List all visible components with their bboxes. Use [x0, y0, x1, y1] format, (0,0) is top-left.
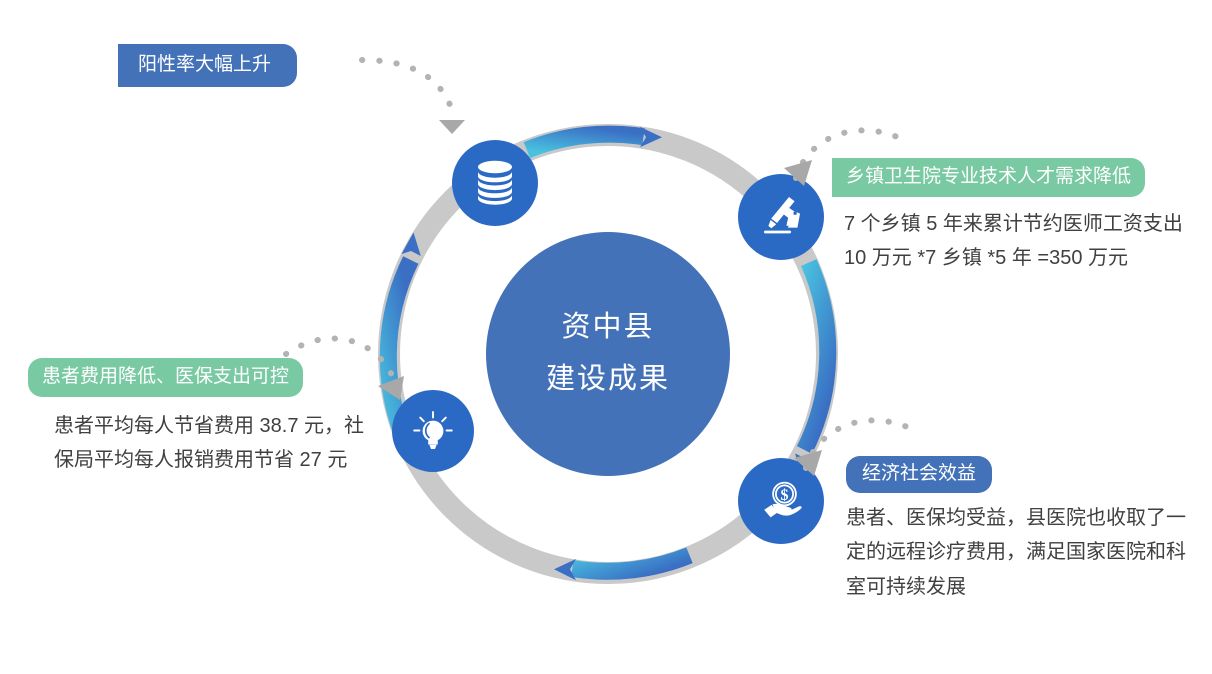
database-icon [472, 159, 518, 207]
callout-economic-social: 经济社会效益 患者、医保均受益，县医院也收取了一定的远程诊疗费用，满足国家医院和… [836, 456, 1212, 604]
callout-patient-cost: 患者费用降低、医保支出可控 患者平均每人节省费用 38.7 元，社保局平均每人报… [28, 358, 384, 478]
node-idea[interactable] [392, 390, 474, 472]
hand-writing-pen-icon [756, 192, 806, 242]
body-patient-cost: 患者平均每人节省费用 38.7 元，社保局平均每人报销费用节省 27 元 [54, 409, 384, 478]
badge-economic-social[interactable]: 经济社会效益 [846, 456, 992, 493]
badge-township-talent[interactable]: 乡镇卫生院专业技术人才需求降低 [832, 158, 1145, 197]
body-township-talent: 7 个乡镇 5 年来累计节约医师工资支出 10 万元 *7 乡镇 *5 年 =3… [844, 207, 1206, 276]
center-hub [486, 232, 730, 476]
callout-township-talent: 乡镇卫生院专业技术人才需求降低 7 个乡镇 5 年来累计节约医师工资支出 10 … [832, 158, 1212, 276]
lightbulb-icon [410, 408, 456, 454]
badge-positive-rate[interactable]: 阳性率大幅上升 [118, 44, 297, 87]
node-writing[interactable] [738, 174, 824, 260]
hand-holding-dollar-icon: $ [756, 476, 806, 526]
svg-text:$: $ [781, 487, 789, 504]
body-economic-social: 患者、医保均受益，县医院也收取了一定的远程诊疗费用，满足国家医院和科室可持续发展 [846, 501, 1204, 604]
callout-positive-rate: 阳性率大幅上升 [118, 44, 297, 87]
badge-patient-cost[interactable]: 患者费用降低、医保支出可控 [28, 358, 303, 397]
ring-segment-bottom [554, 555, 690, 580]
node-database[interactable] [452, 140, 538, 226]
node-economic[interactable]: $ [738, 458, 824, 544]
infographic-canvas: 资中县 建设成果 [0, 0, 1212, 674]
